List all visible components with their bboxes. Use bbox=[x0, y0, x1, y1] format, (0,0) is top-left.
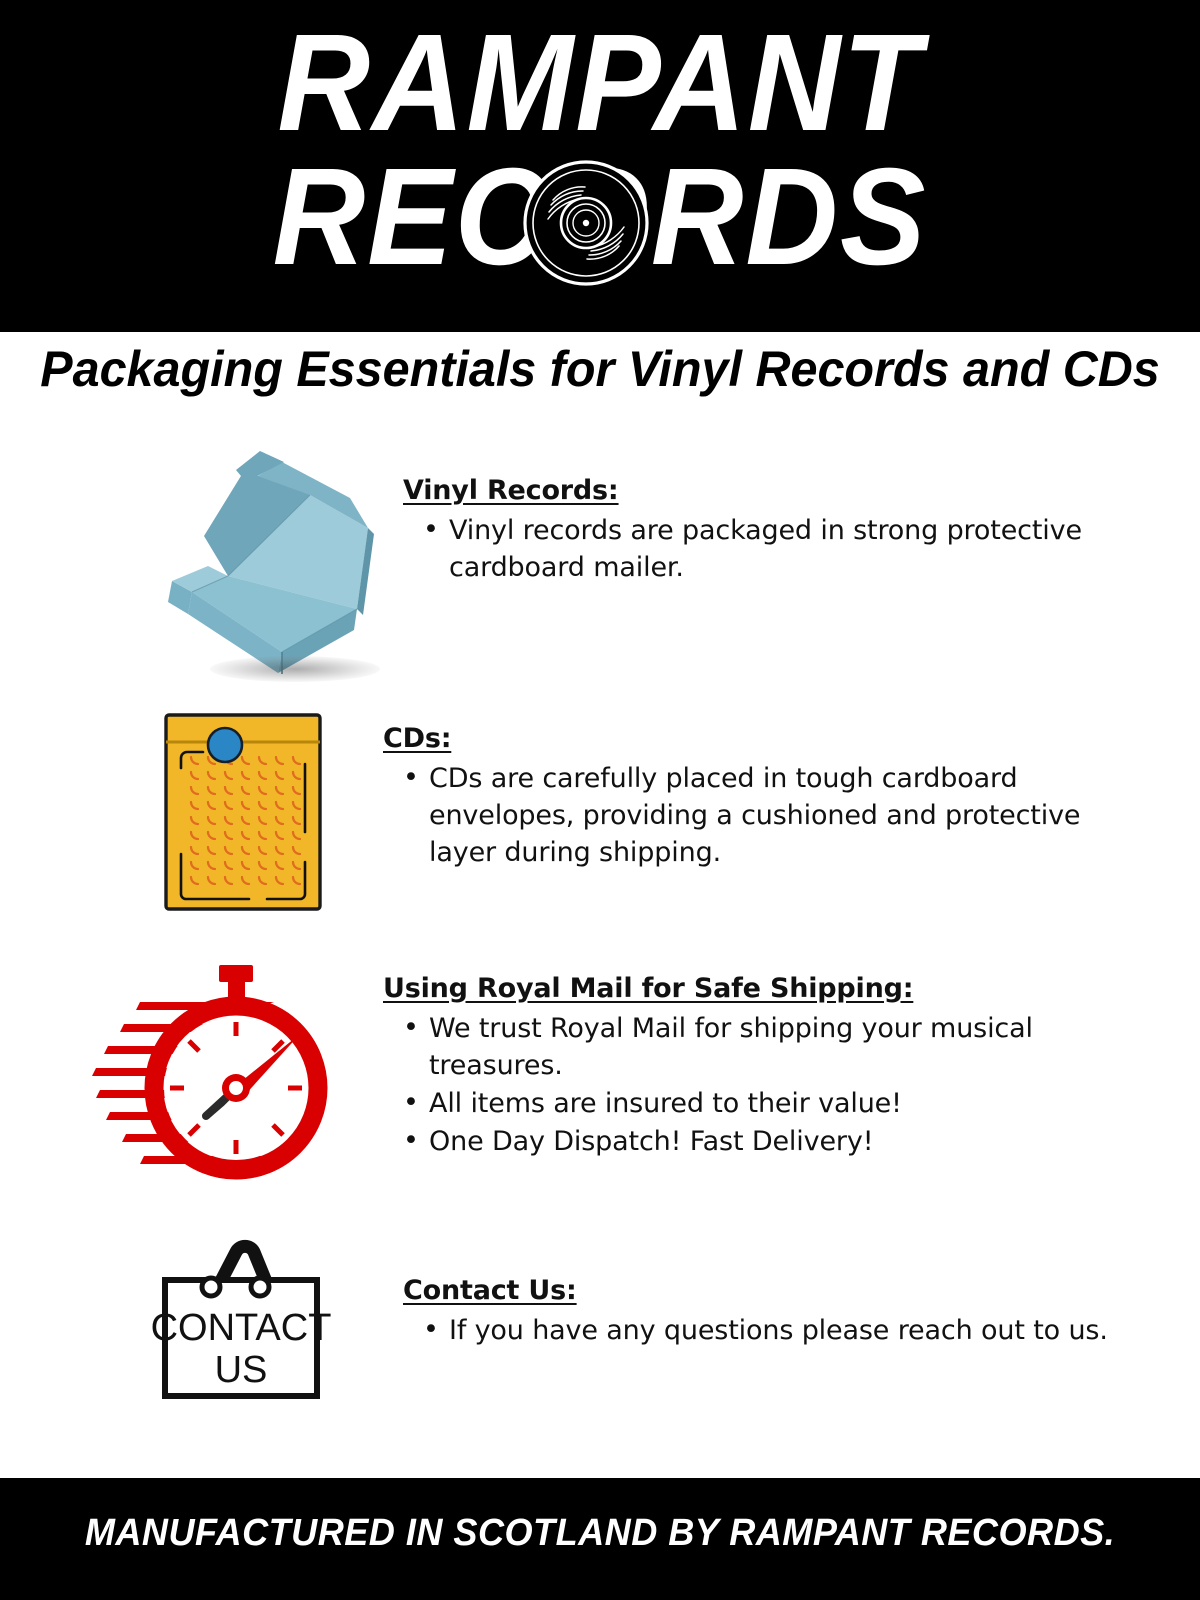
vinyl-record-icon bbox=[523, 160, 649, 286]
section-text-royal-mail: Using Royal Mail for Safe Shipping: We t… bbox=[383, 972, 1103, 1161]
section-bullets-vinyl-records: Vinyl records are packaged in strong pro… bbox=[403, 512, 1103, 586]
footer-band: MANUFACTURED IN SCOTLAND BY RAMPANT RECO… bbox=[0, 1478, 1200, 1600]
envelope-seal-icon bbox=[208, 728, 242, 762]
section-bullets-contact-us: If you have any questions please reach o… bbox=[403, 1312, 1123, 1349]
section-heading-cds: CDs: bbox=[383, 722, 1103, 756]
section-bullets-cds: CDs are carefully placed in tough cardbo… bbox=[383, 760, 1103, 871]
section-icon-cds bbox=[163, 712, 323, 912]
section-text-contact-us: Contact Us: If you have any questions pl… bbox=[403, 1274, 1123, 1350]
section-heading-contact-us: Contact Us: bbox=[403, 1274, 1123, 1308]
list-item: One Day Dispatch! Fast Delivery! bbox=[429, 1123, 1103, 1160]
sign-text-line-1: CONTACT bbox=[151, 1307, 332, 1349]
poster-canvas: RAMPANT RECORDS Packaging Essentials bbox=[0, 0, 1200, 1600]
list-item: We trust Royal Mail for shipping your mu… bbox=[429, 1010, 1103, 1084]
section-bullets-royal-mail: We trust Royal Mail for shipping your mu… bbox=[383, 1010, 1103, 1160]
padded-bubble-envelope-icon bbox=[163, 712, 323, 912]
section-icon-contact-us: CONTACT US bbox=[150, 1232, 332, 1400]
list-item: Vinyl records are packaged in strong pro… bbox=[449, 512, 1103, 586]
section-text-vinyl-records: Vinyl Records: Vinyl records are package… bbox=[403, 474, 1103, 587]
hanging-contact-sign-icon: CONTACT US bbox=[150, 1232, 332, 1400]
section-heading-vinyl-records: Vinyl Records: bbox=[403, 474, 1103, 508]
fast-stopwatch-icon bbox=[78, 960, 340, 1195]
section-text-cds: CDs: CDs are carefully placed in tough c… bbox=[383, 722, 1103, 872]
section-icon-royal-mail bbox=[78, 960, 340, 1195]
section-icon-vinyl-records bbox=[132, 424, 400, 692]
section-heading-royal-mail: Using Royal Mail for Safe Shipping: bbox=[383, 972, 1103, 1006]
sign-text-line-2: US bbox=[215, 1349, 268, 1391]
list-item: All items are insured to their value! bbox=[429, 1085, 1103, 1122]
list-item: CDs are carefully placed in tough cardbo… bbox=[429, 760, 1103, 871]
page-subtitle: Packaging Essentials for Vinyl Records a… bbox=[18, 338, 1182, 400]
footer-text: MANUFACTURED IN SCOTLAND BY RAMPANT RECO… bbox=[30, 1508, 1170, 1558]
brand-line-1: RAMPANT bbox=[42, 8, 1158, 158]
box-drop-shadow bbox=[210, 656, 380, 682]
cardboard-mailer-box-icon bbox=[132, 424, 400, 692]
header-band: RAMPANT RECORDS bbox=[0, 0, 1200, 332]
list-item: If you have any questions please reach o… bbox=[449, 1312, 1123, 1349]
